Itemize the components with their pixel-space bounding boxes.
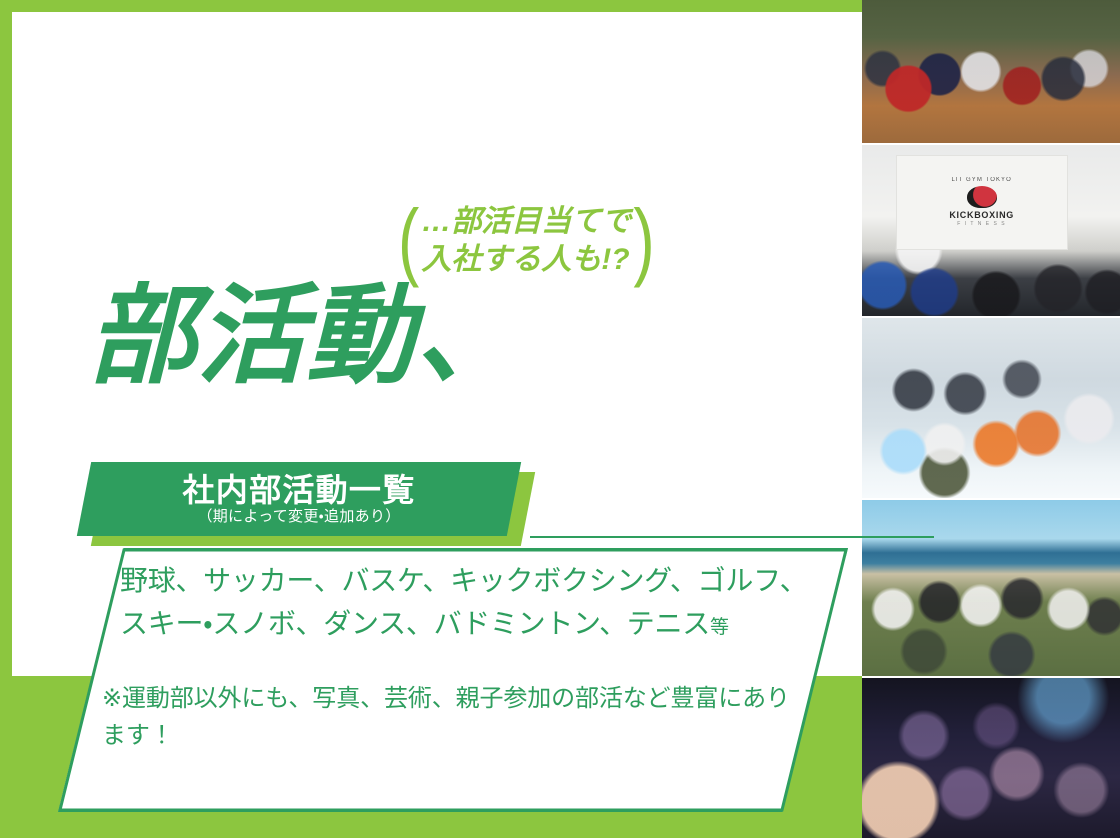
callout-text: …部活目当てで 入社する人も!? (419, 203, 633, 279)
ski-snowboard-club-group-photo (862, 318, 1120, 498)
poster-root: 部活動、 すごく 活発です！ ( …部活目当てで 入社する人も!? ) 社内部活… (0, 0, 1120, 838)
club-list-text: 野球、サッカー、バスケ、キックボクシング、ゴルフ、スキー・スノボ、ダンス、バドミ… (120, 560, 820, 645)
page-title-line-1: 部活動、 (88, 273, 633, 398)
callout-open-paren: ( (398, 202, 419, 280)
gym-sign-sub-text: F I T N E S S (957, 221, 1006, 227)
baseball-club-group-photo (862, 0, 1120, 143)
beach-outing-group-photo (862, 500, 1120, 677)
gym-sign-main-text: KICKBOXING (949, 210, 1014, 220)
club-list-etc: 等 (710, 617, 729, 638)
photo-strip: LIT GYM TOKYO KICKBOXING F I T N E S S (862, 0, 1120, 838)
boxing-helmet-icon (967, 186, 997, 208)
callout-note: ( …部活目当てで 入社する人も!? ) (398, 203, 655, 279)
club-list-note: ※運動部以外にも、写真、芸術、親子参加の部活など豊富にあります！ (102, 680, 802, 754)
party-event-group-selfie-photo (862, 678, 1120, 838)
banner-horizontal-rule (530, 536, 934, 538)
club-list-content: 野球、サッカー、バスケ、キックボクシング、ゴルフ、スキー・スノボ、ダンス、バドミ… (58, 548, 848, 812)
gym-sign-top-text: LIT GYM TOKYO (951, 177, 1011, 183)
callout-close-paren: ) (633, 202, 654, 280)
callout-line-1: …部活目当てで (421, 203, 631, 241)
kickboxing-club-group-photo: LIT GYM TOKYO KICKBOXING F I T N E S S (862, 145, 1120, 317)
club-list-names: 野球、サッカー、バスケ、キックボクシング、ゴルフ、スキー・スノボ、ダンス、バドミ… (120, 565, 807, 639)
banner-main-shape (77, 462, 521, 536)
kickboxing-gym-sign: LIT GYM TOKYO KICKBOXING F I T N E S S (896, 155, 1068, 250)
callout-line-2: 入社する人も!? (421, 241, 631, 279)
section-banner: 社内部活動一覧 （期によって変更・追加あり） (84, 462, 554, 550)
